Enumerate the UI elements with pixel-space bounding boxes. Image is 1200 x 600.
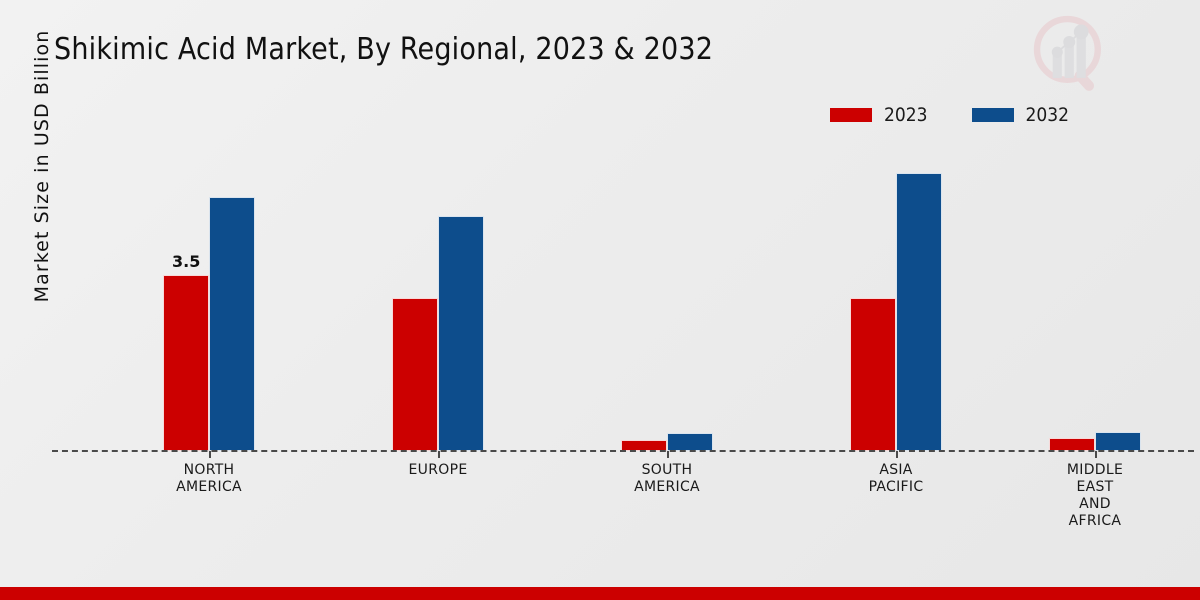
bar-2023-2[interactable] bbox=[392, 298, 438, 451]
footer-accent-bar bbox=[0, 587, 1200, 600]
x-axis-tick bbox=[896, 451, 898, 458]
x-axis-baseline bbox=[52, 450, 1194, 452]
bar-2023-4[interactable] bbox=[850, 298, 896, 451]
x-axis-tick bbox=[209, 451, 211, 458]
chart-title: Shikimic Acid Market, By Regional, 2023 … bbox=[54, 32, 713, 67]
bar-2032-3[interactable] bbox=[667, 433, 713, 451]
x-axis-tick bbox=[438, 451, 440, 458]
legend-label-2023: 2023 bbox=[884, 104, 928, 126]
x-axis-label-2: EUROPE bbox=[409, 462, 468, 479]
legend-swatch-2032 bbox=[972, 108, 1014, 122]
plot-area: 3.5NORTH AMERICAEUROPESOUTH AMERICAASIA … bbox=[52, 140, 1194, 451]
x-axis-label-4: ASIA PACIFIC bbox=[869, 462, 924, 496]
legend-swatch-2023 bbox=[830, 108, 872, 122]
bar-group bbox=[1049, 140, 1141, 451]
bar-2032-1[interactable] bbox=[209, 197, 255, 451]
magnifier-bar-chart-logo-icon bbox=[1026, 8, 1118, 100]
bar-group bbox=[850, 140, 942, 451]
chart-legend: 2023 2032 bbox=[830, 103, 1069, 127]
legend-item-2032[interactable]: 2032 bbox=[972, 104, 1070, 126]
x-axis-label-5: MIDDLE EAST AND AFRICA bbox=[1067, 462, 1123, 530]
y-axis-title: Market Size in USD Billion bbox=[31, 6, 53, 326]
bar-group bbox=[392, 140, 484, 451]
bar-2032-4[interactable] bbox=[896, 173, 942, 451]
x-axis-label-3: SOUTH AMERICA bbox=[634, 462, 700, 496]
x-axis-tick bbox=[667, 451, 669, 458]
chart-figure: Shikimic Acid Market, By Regional, 2023 … bbox=[0, 0, 1200, 600]
x-axis-tick bbox=[1095, 451, 1097, 458]
legend-label-2032: 2032 bbox=[1026, 104, 1070, 126]
bar-2032-2[interactable] bbox=[438, 216, 484, 451]
x-axis-label-1: NORTH AMERICA bbox=[176, 462, 242, 496]
bar-2023-1[interactable] bbox=[163, 275, 209, 451]
legend-item-2023[interactable]: 2023 bbox=[830, 104, 928, 126]
bar-2032-5[interactable] bbox=[1095, 432, 1141, 451]
bar-group: 3.5 bbox=[163, 140, 255, 451]
bar-group bbox=[621, 140, 713, 451]
